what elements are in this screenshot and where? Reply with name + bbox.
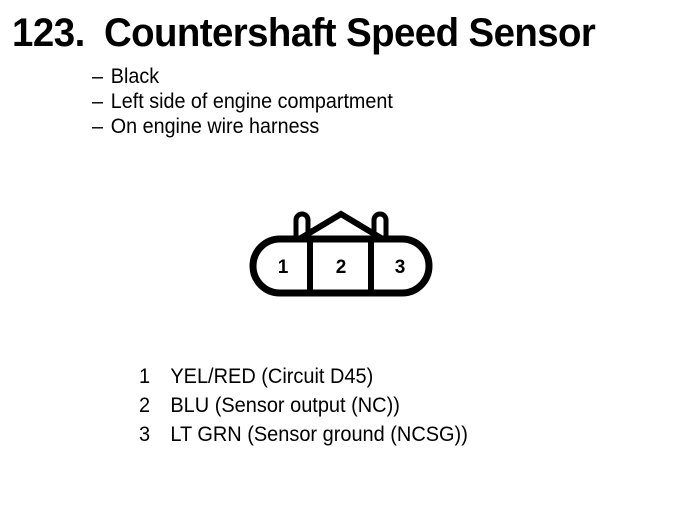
- latch-peak-icon: [301, 214, 381, 238]
- legend-pin-description: BLU (Sensor output (NC)): [170, 391, 400, 420]
- section-number: 123.: [12, 11, 85, 56]
- connector-diagram: 1 2 3: [248, 208, 434, 298]
- detail-list: – Black – Left side of engine compartmen…: [92, 64, 612, 139]
- list-item-label: Black: [111, 64, 159, 89]
- list-item: – Left side of engine compartment: [92, 89, 581, 114]
- legend-pin-number: 1: [139, 362, 170, 391]
- page-canvas: 123. Countershaft Speed Sensor – Black –…: [0, 0, 688, 524]
- legend-row: 3 LT GRN (Sensor ground (NCSG)): [139, 420, 468, 449]
- section-title: Countershaft Speed Sensor: [104, 11, 595, 56]
- cavity-label-1: 1: [278, 257, 289, 278]
- legend-pin-description: YEL/RED (Circuit D45): [170, 362, 373, 391]
- cavity-label-2: 2: [336, 257, 347, 278]
- dash-bullet-icon: –: [92, 114, 111, 139]
- legend-pin-description: LT GRN (Sensor ground (NCSG)): [170, 420, 467, 449]
- legend-pin-number: 3: [139, 420, 170, 449]
- legend-row: 2 BLU (Sensor output (NC)): [139, 391, 468, 420]
- list-item-label: On engine wire harness: [111, 114, 319, 139]
- legend-row: 1 YEL/RED (Circuit D45): [139, 362, 468, 391]
- page-title: 123. Countershaft Speed Sensor: [12, 11, 616, 56]
- dash-bullet-icon: –: [92, 89, 111, 114]
- cavity-label-3: 3: [395, 257, 406, 278]
- pin-legend: 1 YEL/RED (Circuit D45) 2 BLU (Sensor ou…: [139, 362, 485, 449]
- list-item-label: Left side of engine compartment: [111, 89, 393, 114]
- legend-pin-number: 2: [139, 391, 170, 420]
- list-item: – Black: [92, 64, 581, 89]
- dash-bullet-icon: –: [92, 64, 111, 89]
- list-item: – On engine wire harness: [92, 114, 581, 139]
